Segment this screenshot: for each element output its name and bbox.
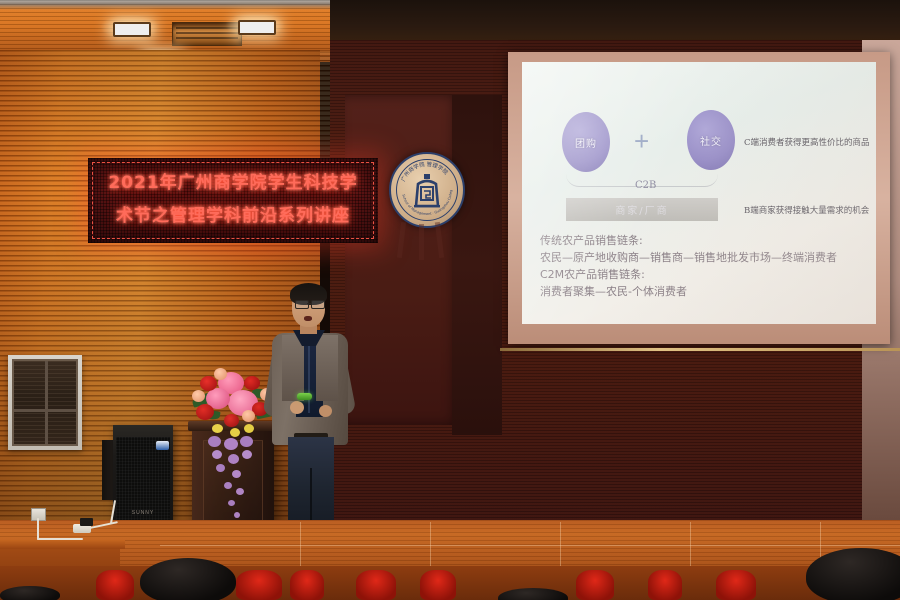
slide-body-line-3: C2M农产品销售链条: <box>540 266 870 283</box>
diagram-note-consumer: C端消费者获得更高性价比的商品 <box>744 136 870 148</box>
diagram-merchant-bar: 商家/厂商 <box>566 198 718 221</box>
emblem-ribbon <box>419 224 424 260</box>
diagram-node-social: 社交 <box>687 110 735 170</box>
presenter-mouth <box>304 316 312 321</box>
stage-red-decoration <box>236 570 282 600</box>
stage-red-decoration <box>96 570 134 600</box>
power-cable <box>37 538 83 540</box>
wall-window <box>8 355 82 450</box>
stage-red-decoration <box>576 570 614 600</box>
slide-body-text: 传统农产品销售链条: 农民—原产地收购商—销售商—销售地批发市场—终端消费者 C… <box>540 232 870 300</box>
led-banner-line-2: 术节之管理学科前沿系列讲座 <box>96 200 370 233</box>
emblem-circular-text: 广州商学院 管理学院 School of Management · Guangz… <box>391 154 463 226</box>
window-glass <box>12 359 78 446</box>
ceiling-downlight <box>113 22 151 37</box>
slide-body-line-2: 农民—原产地收购商—销售商—销售地批发市场—终端消费者 <box>540 249 870 266</box>
pa-speaker: SUNNY <box>113 425 173 530</box>
projection-screen: 团购 + 社交 C2B 商家/厂商 C端消费者获得更高性价比的商品 B端商家获得… <box>522 62 876 324</box>
mid-wall-dark-panel <box>452 95 502 435</box>
diagram-node-groupbuy: 团购 <box>562 112 610 172</box>
floor-seam <box>160 545 900 546</box>
presenter <box>264 283 356 550</box>
slide-body-line-4: 消费者聚集—农民-个体消费者 <box>540 283 870 300</box>
stage-red-decoration <box>648 570 682 600</box>
presenter-right-hand <box>319 405 332 417</box>
diagram-c2b-label: C2B <box>635 180 656 191</box>
stage-step-edge <box>0 540 125 549</box>
power-cable <box>37 518 39 540</box>
audience-head <box>140 558 236 600</box>
stage-red-decoration <box>356 570 396 600</box>
glasses-bridge <box>307 303 311 304</box>
laser-pointer-icon <box>297 393 312 400</box>
wall-gold-trim <box>500 348 900 351</box>
window-mullion <box>45 361 48 444</box>
stage-red-decoration <box>420 570 456 600</box>
audience-head <box>0 586 60 600</box>
slide-body-line-1: 传统农产品销售链条: <box>540 232 870 249</box>
college-emblem: 广州商学院 管理学院 School of Management · Guangz… <box>389 152 465 228</box>
window-mullion <box>14 409 76 412</box>
presenter-shirt-placket <box>308 341 310 413</box>
stage-red-decoration <box>716 570 756 600</box>
power-adapter-plug <box>80 518 93 526</box>
speaker-badge <box>156 441 169 450</box>
presenter-left-hand <box>290 401 304 414</box>
audience-head <box>806 548 900 600</box>
led-banner-line-1: 2021年广州商学院学生科技学 <box>96 167 370 200</box>
glasses-icon <box>311 300 325 309</box>
presenter-lapel <box>316 335 338 401</box>
presenter-lapel <box>282 335 304 401</box>
ceiling-downlight <box>238 20 276 35</box>
led-banner: 2021年广州商学院学生科技学 术节之管理学科前沿系列讲座 <box>88 158 378 243</box>
glasses-icon <box>295 300 309 309</box>
lecture-hall-photo: 2021年广州商学院学生科技学 术节之管理学科前沿系列讲座 广州商学院 管理学院… <box>0 0 900 600</box>
diagram-note-merchant: B端商家获得接触大量需求的机会 <box>744 204 869 216</box>
projection-screen-frame: 团购 + 社交 C2B 商家/厂商 C端消费者获得更高性价比的商品 B端商家获得… <box>508 52 890 344</box>
emblem-wall-panel <box>345 95 460 425</box>
stage-red-decoration <box>290 570 324 600</box>
svg-text:广州商学院 管理学院: 广州商学院 管理学院 <box>399 160 450 183</box>
speaker-brand-label: SUNNY <box>132 510 155 516</box>
diagram-plus-icon: + <box>634 128 649 154</box>
